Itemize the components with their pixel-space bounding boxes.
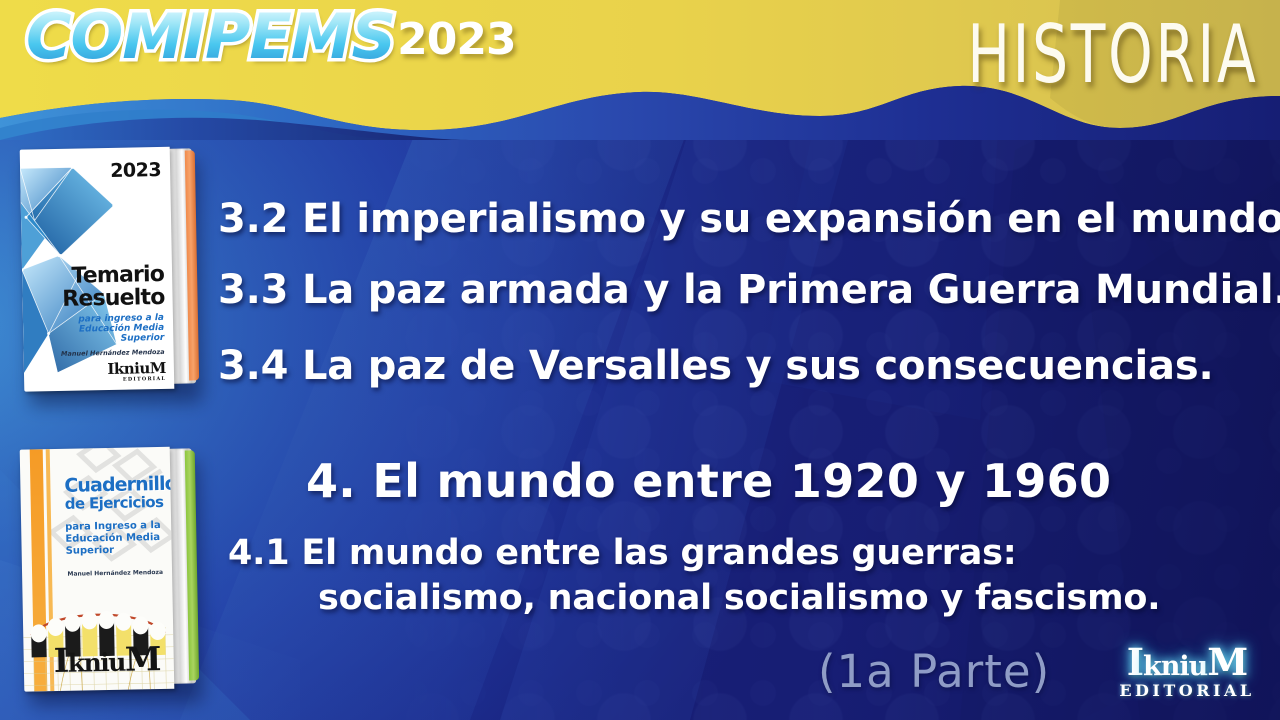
topic-item-3-3: 3.3 La paz armada y la Primera Guerra Mu… [218, 267, 1280, 313]
topic-item-4-1-line2: socialismo, nacional socialismo y fascis… [318, 578, 1160, 618]
unit-4-heading: 4. El mundo entre 1920 y 1960 [306, 454, 1111, 508]
publisher-badge: IkniuM EDITORIAL [1107, 645, 1267, 700]
publisher-tagline: EDITORIAL [1107, 681, 1267, 700]
publisher-name: IkniuM [1107, 645, 1267, 680]
part-label: (1a Parte) [818, 645, 1050, 698]
comipems-wordmark: COMIPEMS COMIPEMS [26, 6, 395, 68]
topic-item-4-1-line1: 4.1 El mundo entre las grandes guerras: [228, 533, 1017, 573]
publisher-name-i: I [1127, 640, 1143, 684]
slide-canvas: COMIPEMS COMIPEMS 2023 HISTORIA [0, 0, 1280, 720]
publisher-name-m: M [1207, 640, 1247, 684]
topic-list: 3.2 El imperialismo y su expansión en el… [0, 0, 1280, 720]
publisher-name-rest: kniu [1143, 651, 1207, 682]
topic-item-3-4: 3.4 La paz de Versalles y sus consecuenc… [218, 343, 1213, 389]
comipems-wordmark-fill: COMIPEMS [26, 6, 395, 68]
topic-item-3-2: 3.2 El imperialismo y su expansión en el… [218, 196, 1280, 242]
